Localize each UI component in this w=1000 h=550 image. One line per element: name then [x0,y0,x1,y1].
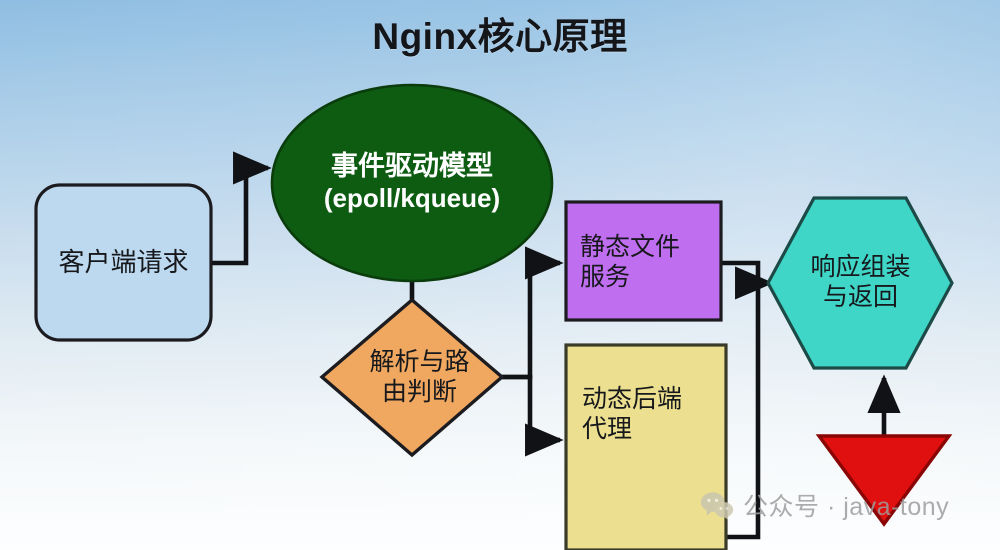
edge-dynamic-to-response [726,283,758,537]
edge-route-to-static [502,263,560,377]
node-client-request[interactable] [36,185,211,340]
edge-static-to-response [721,263,770,283]
node-response-assembly[interactable] [768,198,952,368]
edge-client-to-engine [211,168,268,263]
page-title: Nginx核心原理 [0,6,1000,60]
node-static-file-service[interactable] [566,202,721,320]
node-return-triangle[interactable] [819,436,949,524]
node-dynamic-backend-proxy[interactable] [566,345,726,550]
node-route-decision[interactable] [322,300,502,455]
diagram-shapes-layer [0,0,1000,550]
edge-route-to-dynamic [502,377,560,440]
diagram-canvas: Nginx核心原理 客户端请求 事件驱动模型 (epoll/kqueue) 解析… [0,0,1000,550]
node-event-driven-model[interactable] [272,85,552,281]
